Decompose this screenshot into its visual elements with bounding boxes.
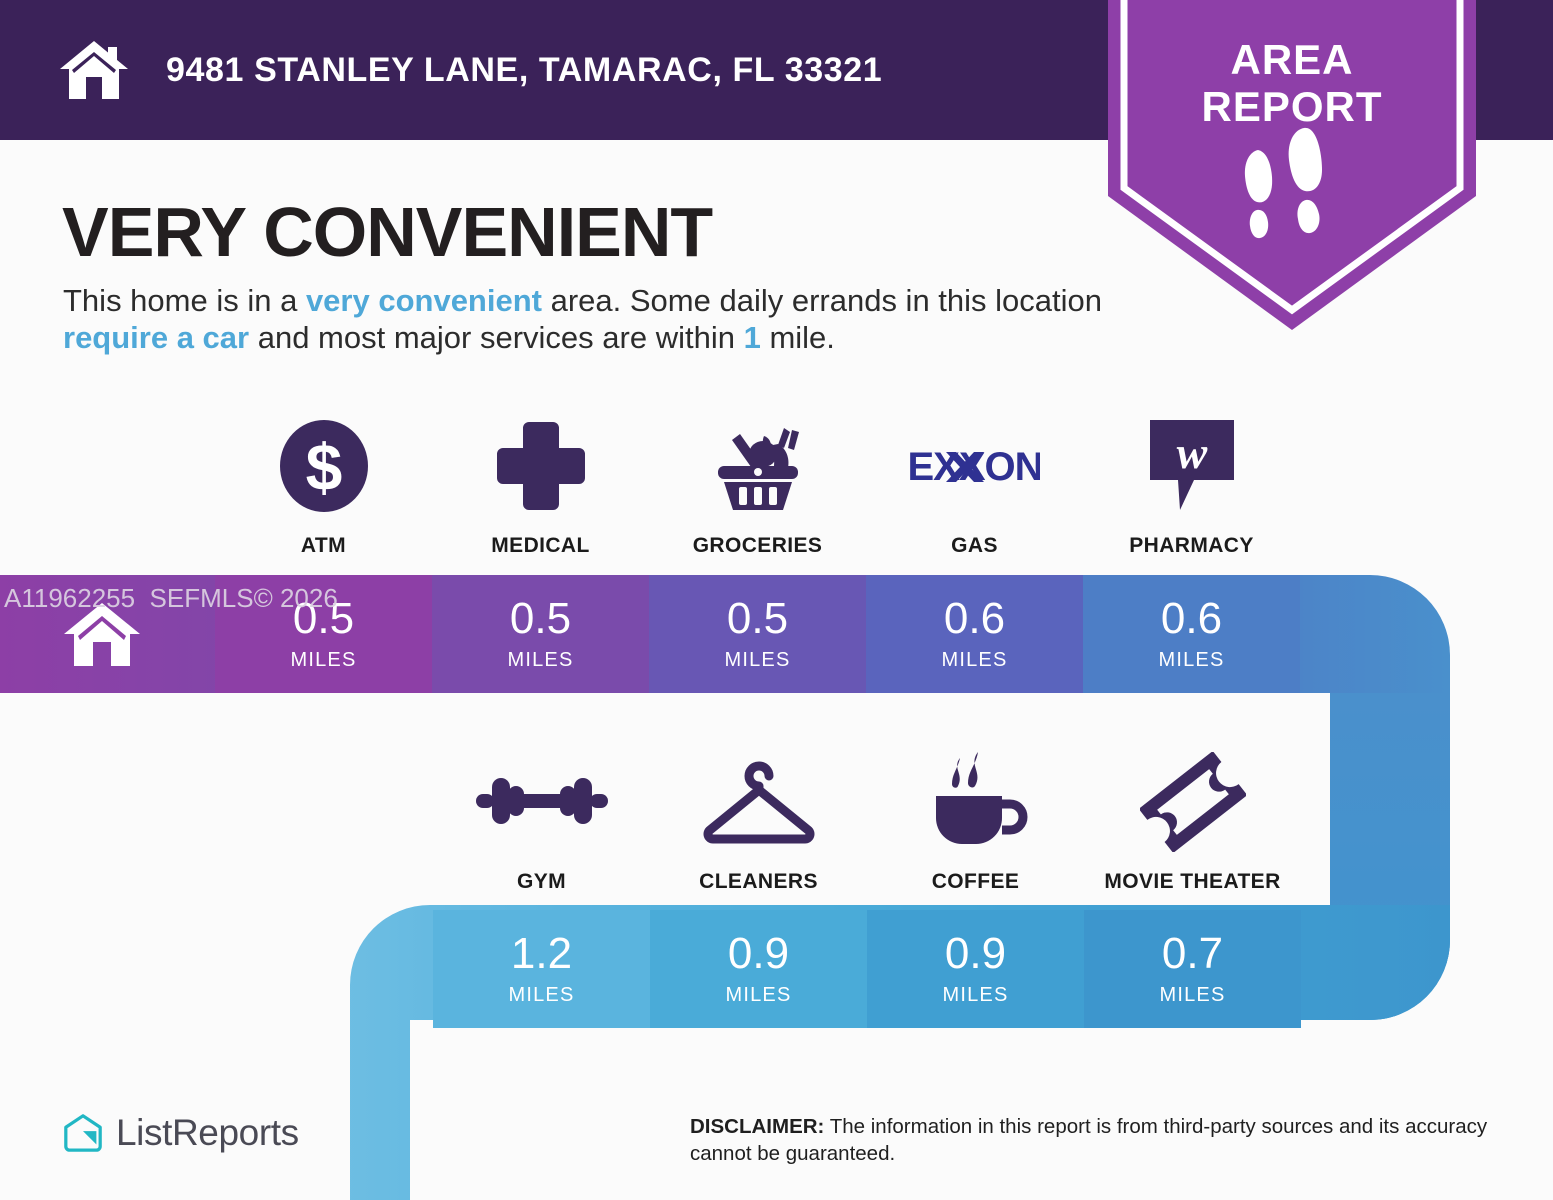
distance-cleaners: 0.9 MILES <box>650 910 867 1028</box>
movie-ticket-icon <box>1140 748 1246 856</box>
distance-row-2: 1.2 MILES 0.9 MILES 0.9 MILES 0.7 MILES <box>433 910 1403 1028</box>
medical-cross-icon <box>493 412 589 520</box>
hanger-icon <box>700 748 818 856</box>
distance-unit: MILES <box>725 984 791 1007</box>
distance-unit: MILES <box>507 649 573 672</box>
distance-value: 1.2 <box>511 932 572 976</box>
intro-part-3: and most major services are within <box>249 320 743 355</box>
area-report-badge: AREA REPORT <box>1108 0 1476 330</box>
distance-unit: MILES <box>1158 649 1224 672</box>
distance-value: 0.9 <box>728 932 789 976</box>
amenity-gas: EXXON GAS <box>866 412 1083 558</box>
atm-dollar-icon: $ <box>275 412 373 520</box>
amenity-row-1: $ ATM MEDICAL <box>215 412 1405 558</box>
svg-text:$: $ <box>305 430 342 504</box>
distance-value: 0.5 <box>727 597 788 641</box>
amenity-atm: $ ATM <box>215 412 432 558</box>
intro-paragraph: This home is in a very convenient area. … <box>63 283 1103 356</box>
home-marker-icon <box>62 600 142 675</box>
listreports-house-tag-icon <box>62 1112 104 1154</box>
intro-highlight-convenient: very convenient <box>306 283 542 318</box>
distance-unit: MILES <box>942 984 1008 1007</box>
intro-highlight-car: require a car <box>63 320 249 355</box>
distance-value: 0.6 <box>944 597 1005 641</box>
intro-part-1: This home is in a <box>63 283 306 318</box>
intro-highlight-miles: 1 <box>744 320 761 355</box>
amenity-coffee: COFFEE <box>867 748 1084 894</box>
amenity-label: GAS <box>951 534 998 558</box>
grocery-basket-icon <box>706 412 810 520</box>
distance-value: 0.7 <box>1162 932 1223 976</box>
distance-unit: MILES <box>508 984 574 1007</box>
distance-medical: 0.5 MILES <box>432 575 649 693</box>
distance-value: 0.6 <box>1161 597 1222 641</box>
intro-part-2: area. Some daily errands in this locatio… <box>542 283 1102 318</box>
amenity-label: PHARMACY <box>1129 534 1254 558</box>
amenity-label: CLEANERS <box>699 870 818 894</box>
amenity-cleaners: CLEANERS <box>650 748 867 894</box>
disclaimer: DISCLAIMER: The information in this repo… <box>690 1113 1500 1167</box>
disclaimer-label: DISCLAIMER: <box>690 1115 824 1138</box>
distance-coffee: 0.9 MILES <box>867 910 1084 1028</box>
distance-pharmacy: 0.6 MILES <box>1083 575 1300 693</box>
distance-value: 0.9 <box>945 932 1006 976</box>
amenity-medical: MEDICAL <box>432 412 649 558</box>
amenity-groceries: GROCERIES <box>649 412 866 558</box>
distance-groceries: 0.5 MILES <box>649 575 866 693</box>
distance-unit: MILES <box>1159 984 1225 1007</box>
exxon-logo-icon: EXXON <box>910 412 1040 520</box>
amenity-pharmacy: w PHARMACY <box>1083 412 1300 558</box>
walgreens-logo-icon: w <box>1146 412 1238 520</box>
home-icon <box>58 39 130 101</box>
listreports-wordmark: ListReports <box>116 1112 299 1154</box>
dumbbell-icon <box>476 748 608 856</box>
amenity-label: ATM <box>301 534 346 558</box>
amenity-label: MEDICAL <box>491 534 589 558</box>
intro-part-4: mile. <box>761 320 835 355</box>
distance-unit: MILES <box>941 649 1007 672</box>
distance-unit: MILES <box>290 649 356 672</box>
amenity-label: GROCERIES <box>693 534 823 558</box>
distance-value: 0.5 <box>510 597 571 641</box>
distance-movie-theater: 0.7 MILES <box>1084 910 1301 1028</box>
distance-unit: MILES <box>724 649 790 672</box>
svg-text:w: w <box>1176 427 1207 478</box>
amenity-movie-theater: MOVIE THEATER <box>1084 748 1301 894</box>
coffee-cup-icon <box>924 748 1028 856</box>
amenity-label: MOVIE THEATER <box>1104 870 1280 894</box>
amenity-label: GYM <box>517 870 566 894</box>
distance-value: 0.5 <box>293 597 354 641</box>
distance-atm: 0.5 MILES <box>215 575 432 693</box>
amenity-gym: GYM <box>433 748 650 894</box>
property-address: 9481 STANLEY LANE, TAMARAC, FL 33321 <box>166 51 882 90</box>
listreports-logo: ListReports <box>62 1112 299 1154</box>
svg-text:EXXON: EXXON <box>910 445 1040 489</box>
page-title: VERY CONVENIENT <box>62 192 712 272</box>
amenity-row-2: GYM CLEANERS COFFEE <box>433 748 1403 894</box>
distance-gym: 1.2 MILES <box>433 910 650 1028</box>
distance-gas: 0.6 MILES <box>866 575 1083 693</box>
amenity-label: COFFEE <box>932 870 1020 894</box>
distance-row-1: 0.5 MILES 0.5 MILES 0.5 MILES 0.6 MILES … <box>215 575 1405 693</box>
